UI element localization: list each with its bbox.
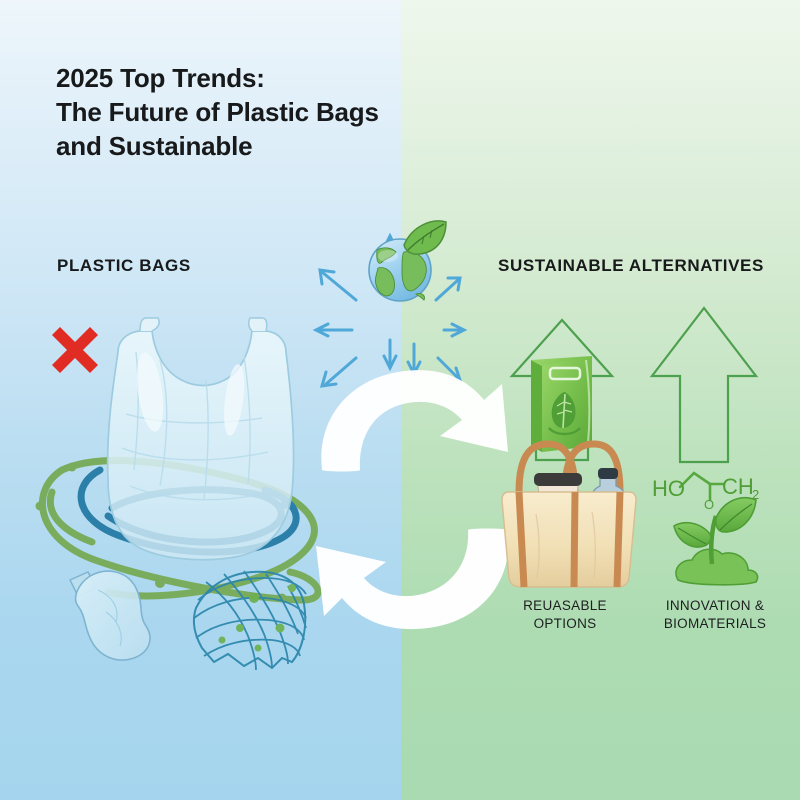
section-label-plastic-bags: PLASTIC BAGS [57, 256, 191, 276]
page-title: 2025 Top Trends: The Future of Plastic B… [56, 62, 416, 163]
infographic-canvas: 2025 Top Trends: The Future of Plastic B… [0, 0, 800, 800]
caption-reusable-options: REUASABLE OPTIONS [500, 597, 630, 632]
title-line-2: The Future of Plastic Bags [56, 96, 416, 130]
section-label-sustainable-alternatives: SUSTAINABLE ALTERNATIVES [498, 256, 764, 276]
title-line-1: 2025 Top Trends: [56, 62, 416, 96]
title-line-3: and Sustainable [56, 130, 416, 164]
background-right-sustainable [401, 0, 800, 800]
caption-innovation-biomaterials: INNOVATION & BIOMATERIALS [645, 597, 785, 632]
